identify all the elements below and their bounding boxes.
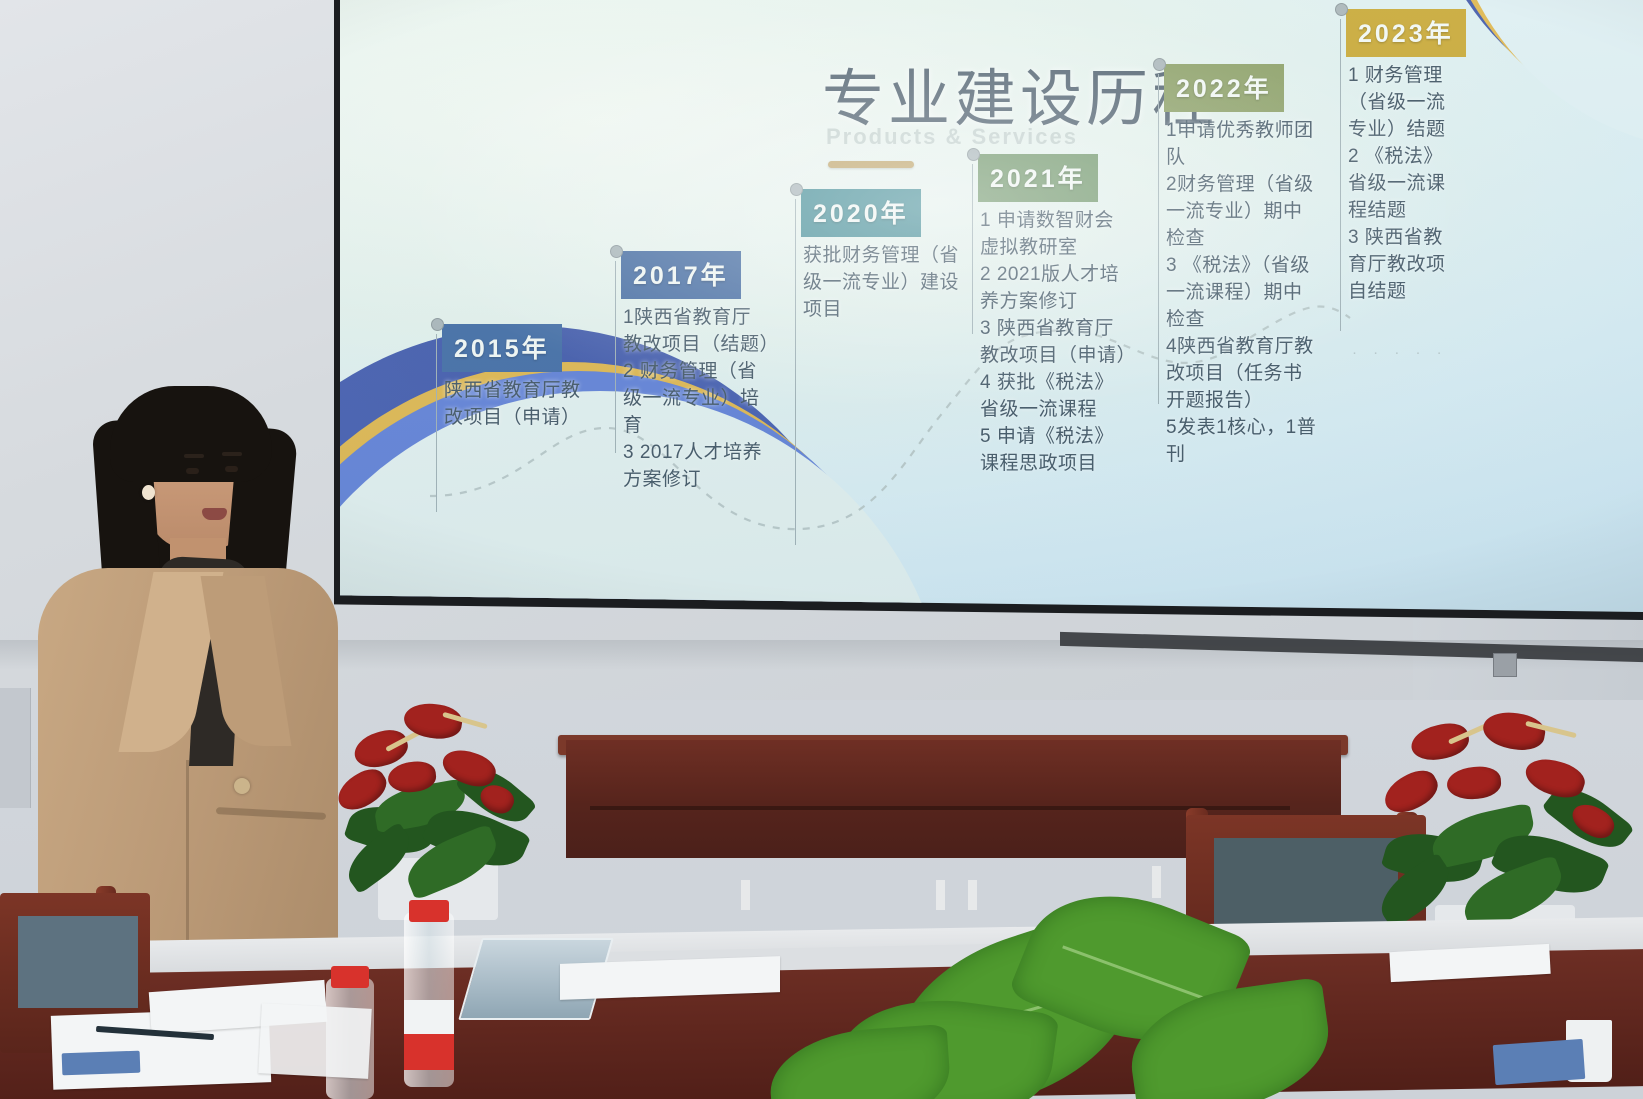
timeline-entry-body: 1申请优秀教师团队2财务管理（省级一流专业）期中检查3 《税法》（省级一流课程）…: [1166, 118, 1318, 469]
timeline-entry-line: 3 陕西省教育厅: [980, 316, 1132, 343]
timeline-entry-line: 教改项目（结题）: [623, 332, 775, 359]
timeline-entry-body: 1 财务管理（省级一流专业）结题2 《税法》省级一流课程结题3 陕西省教育厅教改…: [1348, 63, 1500, 306]
presenter-eyebrow-right: [222, 452, 242, 456]
projection-screen: 专业建设历程 Products & Services 2015年陕西省教育厅教改…: [340, 0, 1643, 612]
timeline-entry-line: 养方案修订: [980, 289, 1132, 316]
timeline-entry-line: 5发表1核心，1普: [1166, 415, 1318, 442]
timeline-stem: [795, 199, 796, 545]
timeline-entry-line: 级一流专业）培: [623, 386, 775, 413]
timeline-entry-2017[interactable]: 2017年1陕西省教育厅教改项目（结题）2 财务管理（省级一流专业）培育3 20…: [615, 251, 775, 494]
anthurium-plant-left: [330, 690, 560, 925]
presenter-brooch: [234, 778, 250, 794]
blue-item-right: [1493, 1039, 1586, 1085]
timeline-entry-line: 3 陕西省教: [1348, 225, 1500, 252]
timeline-entry-body: 1陕西省教育厅教改项目（结题）2 财务管理（省级一流专业）培育3 2017人才培…: [623, 305, 775, 494]
timeline-entry-line: 2 财务管理（省: [623, 359, 775, 386]
timeline-entry-line: 一流专业）期中: [1166, 199, 1318, 226]
bottle-cap-1: [409, 900, 449, 922]
timeline-entry-2021[interactable]: 2021年1 申请数智财会虚拟教研室2 2021版人才培养方案修订3 陕西省教育…: [972, 154, 1132, 478]
foreground-foliage: [830, 880, 1390, 1099]
presenter-eye-left: [186, 468, 199, 474]
timeline-entry-line: 获批财务管理（省: [803, 243, 955, 270]
timeline-entry-line: 方案修订: [623, 467, 775, 494]
wall-socket: [1493, 653, 1517, 677]
timeline: 2015年陕西省教育厅教改项目（申请）2017年1陕西省教育厅教改项目（结题）2…: [340, 0, 1643, 612]
bottle-label-1: [404, 1000, 454, 1034]
timeline-entry-line: 陕西省教育厅教: [444, 378, 596, 405]
timeline-node-dot: [1153, 58, 1166, 71]
flower: [1480, 708, 1547, 754]
flower: [1408, 719, 1472, 764]
timeline-entry-line: 专业）结题: [1348, 117, 1500, 144]
timeline-node-dot: [431, 318, 444, 331]
bottle-cap-2: [331, 966, 369, 988]
timeline-entry-2015[interactable]: 2015年陕西省教育厅教改项目（申请）: [436, 324, 596, 432]
timeline-entry-line: 3 《税法》（省级: [1166, 253, 1318, 280]
timeline-entry-line: 1 财务管理: [1348, 63, 1500, 90]
timeline-entry-line: 省级一流课程: [980, 397, 1132, 424]
timeline-year-label: 2017年: [621, 251, 741, 299]
timeline-year-label: 2023年: [1346, 9, 1466, 57]
presenter-eyebrow-left: [184, 454, 204, 458]
timeline-entry-line: 改项目（申请）: [444, 405, 596, 432]
timeline-entry-line: （省级一流: [1348, 90, 1500, 117]
presenter-mouth: [202, 508, 227, 520]
timeline-stem: [1158, 74, 1159, 404]
timeline-entry-line: 刊: [1166, 442, 1318, 469]
podium-panel-line: [590, 806, 1290, 810]
bottle-label-red-1: [404, 1034, 454, 1070]
timeline-stem: [972, 164, 973, 334]
timeline-entry-body: 1 申请数智财会虚拟教研室2 2021版人才培养方案修订3 陕西省教育厅教改项目…: [980, 208, 1132, 478]
timeline-entry-line: 检查: [1166, 226, 1318, 253]
timeline-node-dot: [967, 148, 980, 161]
timeline-entry-line: 1 申请数智财会: [980, 208, 1132, 235]
timeline-entry-line: 开题报告）: [1166, 388, 1318, 415]
timeline-stem: [436, 334, 437, 512]
blue-booklet: [62, 1051, 141, 1076]
timeline-year-label: 2022年: [1164, 64, 1284, 112]
timeline-entry-line: 项目: [803, 297, 955, 324]
timeline-year-label: 2015年: [442, 324, 562, 372]
timeline-entry-line: 2 《税法》: [1348, 144, 1500, 171]
flower: [1378, 764, 1443, 820]
timeline-entry-body: 获批财务管理（省级一流专业）建设项目: [803, 243, 955, 324]
timeline-entry-line: 队: [1166, 145, 1318, 172]
document-paper-table: [560, 956, 780, 1000]
timeline-entry-line: 1陕西省教育厅: [623, 305, 775, 332]
timeline-entry-line: 课程思政项目: [980, 451, 1132, 478]
presenter-eye-right: [225, 466, 238, 472]
document-paper-center: [258, 1003, 372, 1079]
timeline-entry-line: 5 申请《税法》: [980, 424, 1132, 451]
flower: [1446, 765, 1502, 801]
timeline-stem: [1340, 19, 1341, 331]
timeline-entry-line: 程结题: [1348, 198, 1500, 225]
timeline-entry-line: 4 获批《税法》: [980, 370, 1132, 397]
timeline-entry-line: 育: [623, 413, 775, 440]
microphone-1: [741, 880, 750, 910]
timeline-year-label: 2021年: [978, 154, 1098, 202]
timeline-entry-line: 一流课程）期中: [1166, 280, 1318, 307]
timeline-entry-2022[interactable]: 2022年1申请优秀教师团队2财务管理（省级一流专业）期中检查3 《税法》（省级…: [1158, 64, 1318, 469]
timeline-entry-2023[interactable]: 2023年1 财务管理（省级一流专业）结题2 《税法》省级一流课程结题3 陕西省…: [1340, 9, 1500, 306]
timeline-node-dot: [1335, 3, 1348, 16]
timeline-entry-body: 陕西省教育厅教改项目（申请）: [444, 378, 596, 432]
timeline-entry-line: 3 2017人才培养: [623, 440, 775, 467]
timeline-entry-line: 2财务管理（省级: [1166, 172, 1318, 199]
timeline-node-dot: [790, 183, 803, 196]
timeline-entry-line: 4陕西省教育厅教: [1166, 334, 1318, 361]
meeting-room-photo: 专业建设历程 Products & Services 2015年陕西省教育厅教改…: [0, 0, 1643, 1099]
timeline-trailing-dots: · · · · ·: [1352, 344, 1448, 361]
timeline-entry-line: 省级一流课: [1348, 171, 1500, 198]
timeline-entry-line: 育厅教改项: [1348, 252, 1500, 279]
timeline-node-dot: [610, 245, 623, 258]
timeline-entry-line: 2 2021版人才培: [980, 262, 1132, 289]
timeline-entry-line: 检查: [1166, 307, 1318, 334]
timeline-year-label: 2020年: [801, 189, 921, 237]
timeline-entry-line: 虚拟教研室: [980, 235, 1132, 262]
timeline-entry-line: 改项目（任务书: [1166, 361, 1318, 388]
timeline-stem: [615, 261, 616, 453]
timeline-entry-line: 教改项目（申请）: [980, 343, 1132, 370]
timeline-entry-line: 1申请优秀教师团: [1166, 118, 1318, 145]
chair-left-seat: [18, 916, 138, 1008]
timeline-entry-2020[interactable]: 2020年获批财务管理（省级一流专业）建设项目: [795, 189, 955, 324]
timeline-entry-line: 自结题: [1348, 279, 1500, 306]
presenter-earring: [142, 485, 155, 500]
timeline-entry-line: 级一流专业）建设: [803, 270, 955, 297]
